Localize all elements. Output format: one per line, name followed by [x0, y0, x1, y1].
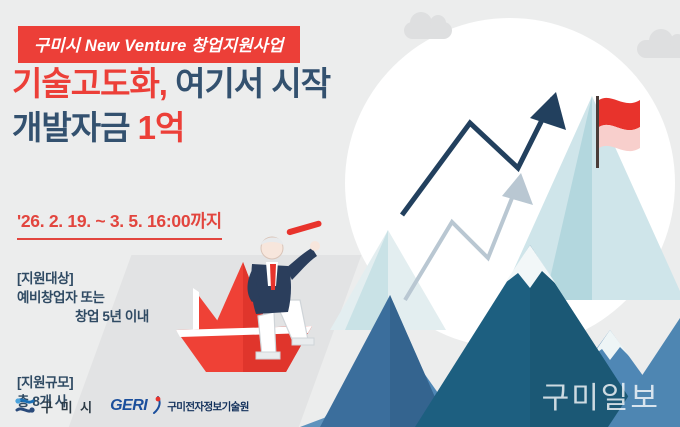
- geri-swoosh-icon: [152, 396, 162, 416]
- detail-label: [지원규모]: [17, 375, 73, 390]
- ribbon-banner: 구미시 New Venture 창업지원사업: [18, 26, 300, 63]
- gumi-city-logo: 구 미 시: [14, 396, 94, 416]
- telescope-icon: [286, 220, 322, 236]
- person-shoe-back: [292, 338, 314, 345]
- headline-line2-red: 1억: [138, 109, 185, 146]
- footer-logos: 구 미 시 GERI 구미전자정보기술원: [14, 396, 249, 416]
- detail-value-continued: 창업 5년 이내: [17, 307, 247, 326]
- headline-line1-navy: 여기서 시작: [167, 65, 330, 102]
- arrow-dark-head: [530, 92, 566, 130]
- flag-pole: [596, 96, 599, 168]
- geri-subtitle: 구미전자정보기술원: [167, 399, 249, 414]
- person-hand: [310, 241, 320, 251]
- headline-line2-navy: 개발자금: [12, 109, 138, 146]
- arrow-light-head: [502, 173, 533, 205]
- geri-wordmark: GERI: [110, 397, 147, 415]
- list-item: [지원대상] 예비창업자 또는 창업 5년 이내: [17, 250, 247, 346]
- gumi-city-emblem-icon: [14, 396, 36, 416]
- application-period: '26. 2. 19. ~ 3. 5. 16:00까지: [17, 208, 222, 240]
- arrow-light-path: [405, 178, 520, 300]
- person-shoe-front: [256, 352, 280, 359]
- detail-label: [지원대상]: [17, 271, 73, 286]
- list-item: [지원내용] 개발자금 창업 프로그램: [17, 419, 247, 427]
- detail-value: 예비창업자 또는: [17, 290, 105, 305]
- promotional-poster: 구미시 New Venture 창업지원사업 기술고도화, 여기서 시작 개발자…: [0, 0, 680, 427]
- headline-line1-red: 기술고도화,: [12, 65, 167, 102]
- gumi-city-label: 구 미 시: [41, 397, 94, 416]
- person-tie: [270, 264, 276, 290]
- page-title: 기술고도화, 여기서 시작 개발자금 1억: [12, 62, 432, 150]
- person-arm-up: [286, 248, 317, 280]
- watermark: 구미일보: [542, 373, 660, 417]
- geri-logo: GERI 구미전자정보기술원: [110, 396, 249, 416]
